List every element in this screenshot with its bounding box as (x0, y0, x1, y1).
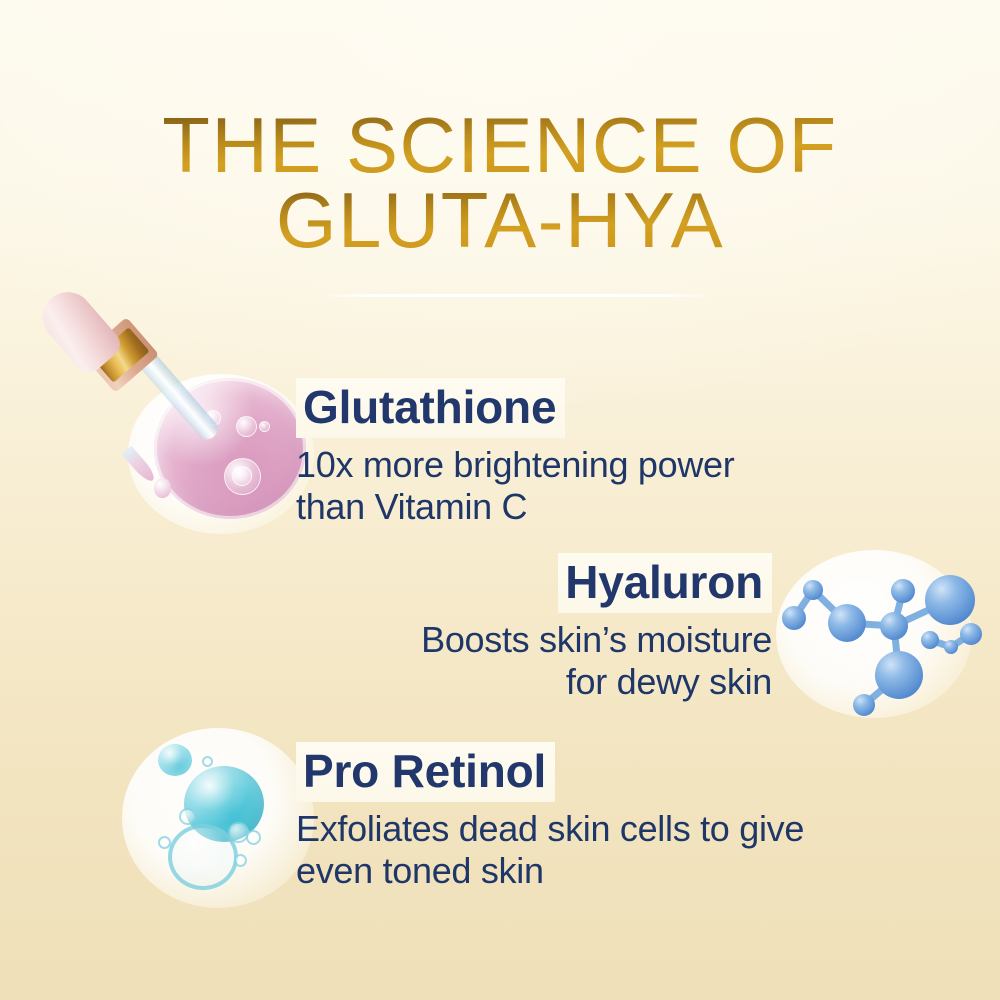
ingredient-name-hyaluron: Hyaluron (558, 553, 772, 613)
molecule-node (925, 575, 975, 625)
molecule-node (782, 606, 806, 630)
molecule-node (921, 631, 939, 649)
ingredient-description-glutathione: 10x more brightening power than Vitamin … (296, 444, 734, 528)
molecule-node (803, 580, 823, 600)
ingredient-block-pro-retinol: Pro Retinol Exfoliates dead skin cells t… (296, 742, 804, 892)
bubble-icon (236, 416, 257, 437)
ingredient-description-pro-retinol: Exfoliates dead skin cells to give even … (296, 808, 804, 892)
molecule-node (960, 623, 982, 645)
bubble-icon (202, 756, 213, 767)
page-title: THE SCIENCE OF GLUTA-HYA (0, 108, 1000, 258)
molecule-node (880, 612, 908, 640)
bubble-icon (179, 808, 196, 825)
ingredient-name-glutathione: Glutathione (296, 378, 565, 438)
bubble-icon (158, 836, 171, 849)
poster-canvas: THE SCIENCE OF GLUTA-HYA Glutathione 10x… (0, 0, 1000, 1000)
dropper-pipette-icon (42, 282, 232, 482)
molecule-node (944, 640, 958, 654)
pink-serum-droplet-icon (28, 282, 308, 532)
title-line-1: THE SCIENCE OF (0, 108, 1000, 183)
pipette-drop (154, 478, 171, 498)
bubble-icon (232, 466, 252, 486)
ingredient-description-hyaluron: Boosts skin’s moisture for dewy skin (398, 619, 772, 703)
ingredient-block-hyaluron: Hyaluron Boosts skin’s moisture for dewy… (398, 553, 772, 703)
molecule-node (875, 651, 923, 699)
title-divider (320, 294, 712, 297)
molecule-node (853, 694, 875, 716)
molecule-structure (772, 548, 984, 720)
molecule-node (891, 579, 915, 603)
ingredient-name-pro-retinol: Pro Retinol (296, 742, 555, 802)
bubble-icon (246, 830, 261, 845)
cyan-bubbles-icon (118, 726, 324, 912)
molecule-nodes (782, 575, 982, 716)
title-line-2: GLUTA-HYA (0, 183, 1000, 258)
cyan-small-bubble (158, 744, 192, 776)
bubble-icon (234, 854, 247, 867)
pipette-tip (122, 446, 158, 485)
molecule-node (828, 604, 866, 642)
ingredient-block-glutathione: Glutathione 10x more brightening power t… (296, 378, 734, 528)
blue-molecule-icon (772, 548, 984, 720)
bubble-icon (259, 421, 270, 432)
